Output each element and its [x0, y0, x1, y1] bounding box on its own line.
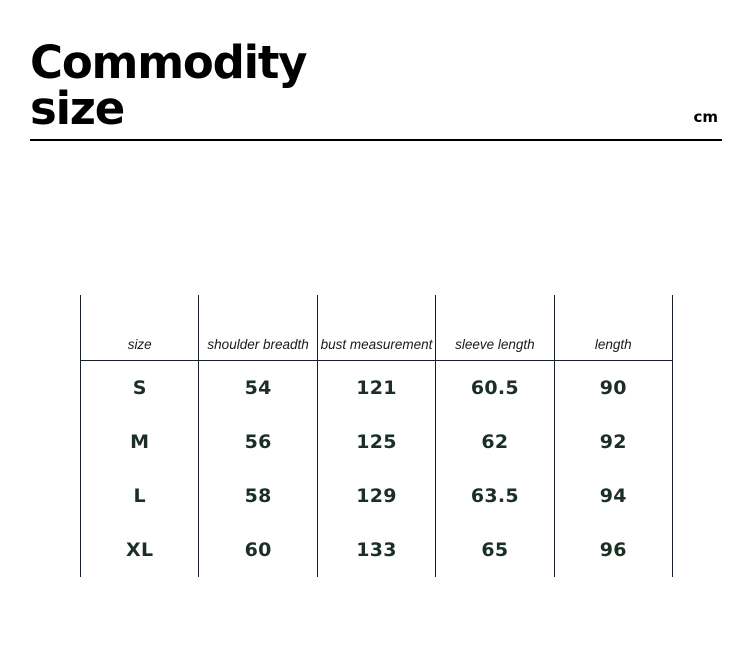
table-row: L 58 129 63.5 94	[81, 469, 673, 523]
unit-label: cm	[693, 108, 718, 126]
size-table-container: size shoulder breadth bust measurement s…	[80, 295, 672, 567]
cell-shoulder-breadth: 56	[199, 415, 317, 469]
cell-size: XL	[81, 523, 199, 577]
cell-sleeve-length: 63.5	[436, 469, 554, 523]
cell-sleeve-length: 60.5	[436, 361, 554, 416]
cell-shoulder-breadth: 54	[199, 361, 317, 416]
page-title: Commodity size	[30, 40, 360, 132]
cell-shoulder-breadth: 58	[199, 469, 317, 523]
column-header-length: length	[554, 295, 672, 361]
table-row: S 54 121 60.5 90	[81, 361, 673, 416]
cell-sleeve-length: 62	[436, 415, 554, 469]
cell-size: L	[81, 469, 199, 523]
column-header-shoulder-breadth: shoulder breadth	[199, 295, 317, 361]
cell-size: M	[81, 415, 199, 469]
size-table: size shoulder breadth bust measurement s…	[80, 295, 673, 577]
column-header-bust-measurement: bust measurement	[317, 295, 435, 361]
cell-length: 96	[554, 523, 672, 577]
cell-length: 92	[554, 415, 672, 469]
cell-bust-measurement: 129	[317, 469, 435, 523]
column-header-size: size	[81, 295, 199, 361]
cell-size: S	[81, 361, 199, 416]
column-header-sleeve-length: sleeve length	[436, 295, 554, 361]
cell-bust-measurement: 125	[317, 415, 435, 469]
table-header-row: size shoulder breadth bust measurement s…	[81, 295, 673, 361]
title-divider	[30, 139, 722, 141]
cell-bust-measurement: 121	[317, 361, 435, 416]
table-body: S 54 121 60.5 90 M 56 125 62 92 L 58 129…	[81, 361, 673, 578]
cell-sleeve-length: 65	[436, 523, 554, 577]
table-row: XL 60 133 65 96	[81, 523, 673, 577]
cell-bust-measurement: 133	[317, 523, 435, 577]
table-header: size shoulder breadth bust measurement s…	[81, 295, 673, 361]
cell-shoulder-breadth: 60	[199, 523, 317, 577]
cell-length: 90	[554, 361, 672, 416]
title-block: Commodity size cm	[30, 40, 722, 132]
table-row: M 56 125 62 92	[81, 415, 673, 469]
cell-length: 94	[554, 469, 672, 523]
